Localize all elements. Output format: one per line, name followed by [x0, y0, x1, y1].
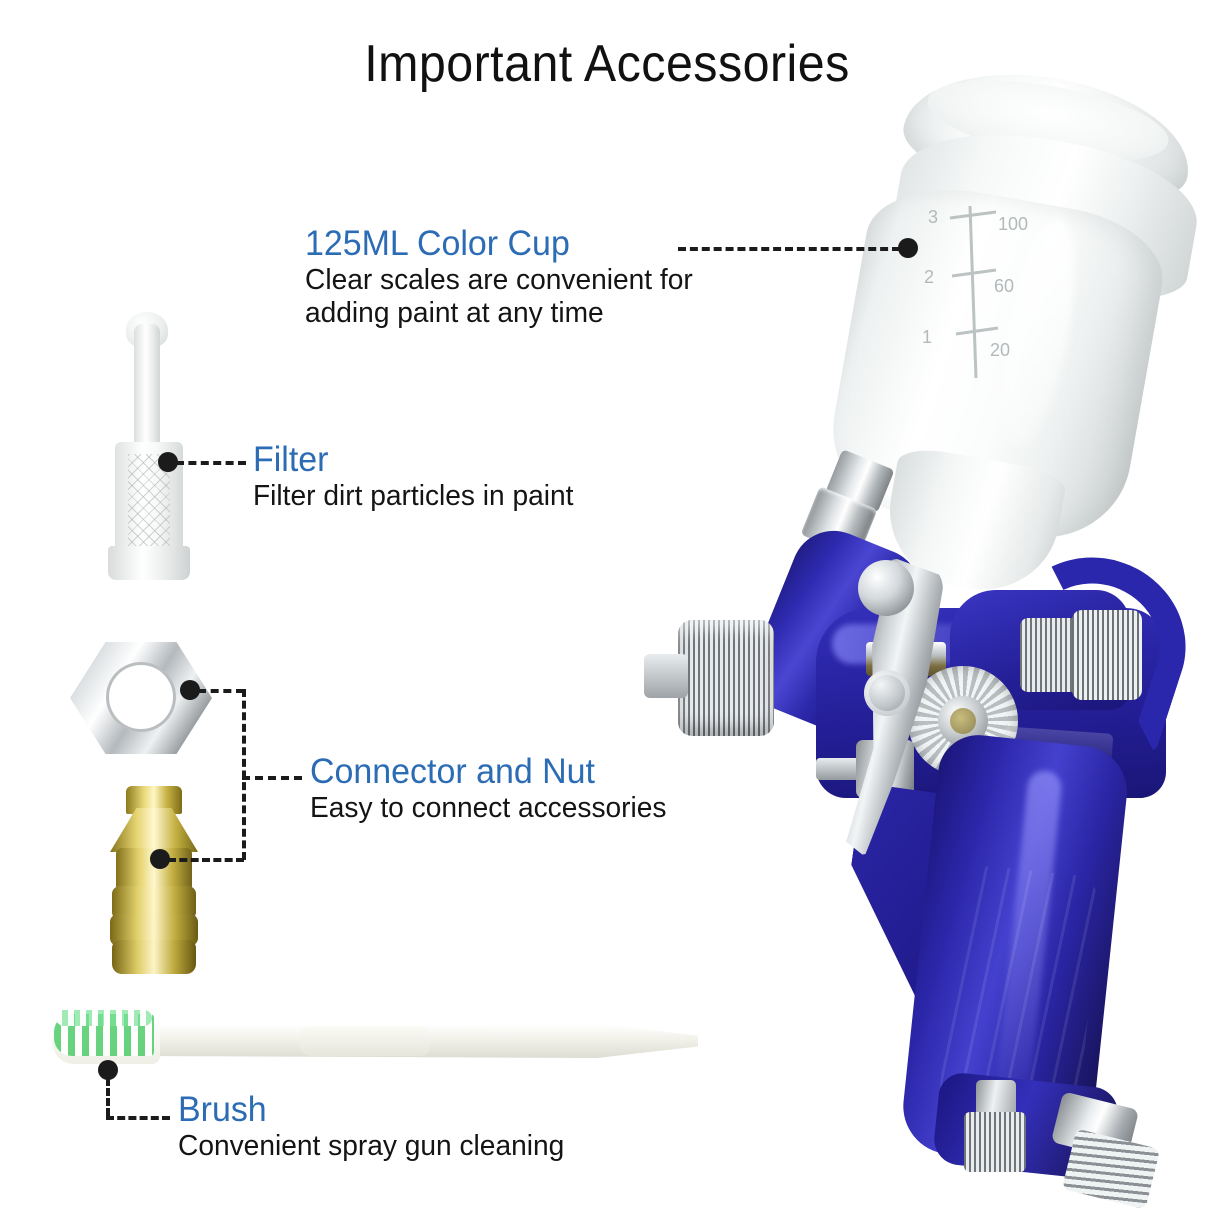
leader-line-color-cup: [678, 247, 900, 251]
leader-line-brush-horizontal: [106, 1116, 170, 1120]
cup-scale-label-100: 100: [998, 214, 1028, 234]
hex-nut-hole: [106, 662, 176, 732]
cup-scale-label-60: 60: [994, 276, 1014, 296]
brass-connector-illustration: [96, 786, 216, 976]
filter-flange: [108, 546, 190, 580]
leader-dot-connector: [150, 849, 170, 869]
connector-barb-4: [112, 940, 196, 974]
callout-description-brush: Convenient spray gun cleaning: [178, 1130, 564, 1163]
brush-bristles-top: [56, 1010, 152, 1026]
filter-illustration: [96, 302, 206, 590]
leader-line-bracket-branch: [242, 776, 302, 780]
air-adjust-knob-outer: [1072, 610, 1142, 700]
leader-dot-brush: [98, 1060, 118, 1080]
filter-stem: [134, 324, 160, 456]
cup-scale-label-2: 2: [924, 267, 934, 287]
infographic-canvas: Important Accessories 3 100 2 60 1 20: [0, 0, 1214, 1214]
callout-title-filter: Filter: [253, 440, 573, 480]
leader-dot-color-cup: [898, 238, 918, 258]
callout-description-connector-and-nut: Easy to connect accessories: [310, 792, 666, 825]
leader-line-brush-vertical: [106, 1078, 110, 1116]
callout-desc-line: Easy to connect accessories: [310, 792, 666, 825]
callout-desc-line: Filter dirt particles in paint: [253, 480, 573, 513]
callout-title-brush: Brush: [178, 1090, 564, 1130]
leader-line-filter: [176, 461, 246, 465]
callout-connector-and-nut: Connector and Nut Easy to connect access…: [310, 752, 678, 825]
leader-dot-nut: [180, 680, 200, 700]
callout-title-connector-and-nut: Connector and Nut: [310, 752, 666, 792]
spray-gun-illustration: [620, 440, 1214, 1214]
callout-description-filter: Filter dirt particles in paint: [253, 480, 573, 513]
fluid-adjust-knob: [678, 620, 774, 736]
callout-filter: Filter Filter dirt particles in paint: [253, 440, 583, 513]
cup-scale-label-20: 20: [990, 340, 1010, 360]
callout-brush: Brush Convenient spray gun cleaning: [178, 1090, 576, 1163]
cleaning-brush-illustration: [42, 1010, 702, 1082]
air-inlet-thread: [1062, 1129, 1160, 1210]
leader-line-connector: [168, 858, 244, 862]
fan-knob-screw: [950, 708, 976, 734]
fluid-adjust-stem: [644, 654, 688, 698]
cup-scale-label-1: 1: [922, 327, 932, 347]
callout-description-color-cup: Clear scales are convenient for adding p…: [305, 264, 693, 330]
leader-dot-filter: [158, 452, 178, 472]
callout-title-color-cup: 125ML Color Cup: [305, 224, 693, 264]
air-adjust-knob-inner: [1020, 618, 1078, 692]
trigger-pivot-screw: [864, 670, 910, 716]
callout-desc-line: Clear scales are convenient for: [305, 264, 693, 297]
leader-line-nut: [198, 689, 244, 693]
leader-line-bracket-vertical: [242, 689, 246, 860]
callout-color-cup: 125ML Color Cup Clear scales are conveni…: [305, 224, 705, 330]
connector-cone: [110, 808, 198, 852]
bottom-knurled-screw: [964, 1112, 1026, 1172]
trigger-top-ball: [858, 560, 914, 616]
brush-grip: [300, 1026, 430, 1056]
cup-scale-label-3: 3: [928, 207, 938, 227]
callout-desc-line: Convenient spray gun cleaning: [178, 1130, 564, 1163]
callout-desc-line: adding paint at any time: [305, 297, 693, 330]
